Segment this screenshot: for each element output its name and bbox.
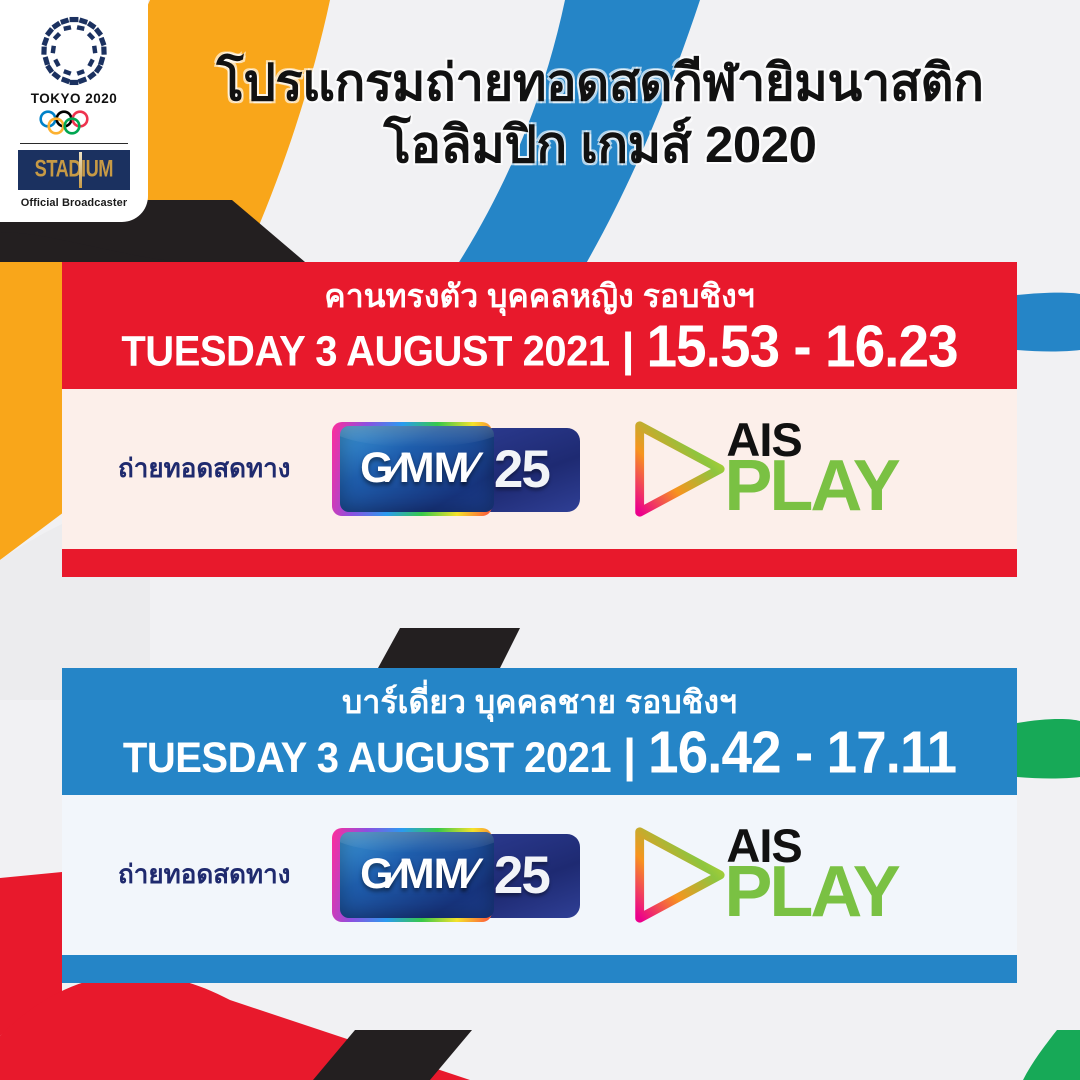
ais-play-wordmark: AIS PLAY (724, 826, 897, 924)
black-band-middle-shape (378, 628, 520, 668)
card-1-watch-label: ถ่ายทอดสดทาง (118, 448, 290, 489)
card-2-footer (62, 955, 1017, 983)
gmm-wordmark: G⁄MM⁄ (360, 850, 474, 899)
gmm-25-logo[interactable]: 25 G⁄MM⁄ (330, 420, 580, 518)
ais-play-triangle-icon (622, 823, 730, 927)
tokyo-2020-text: TOKYO 2020 (31, 91, 118, 106)
card-1-datetime: TUESDAY 3 AUGUST 2021 | 15.53 - 16.23 (80, 319, 999, 375)
ais-product-text: PLAY (724, 862, 897, 924)
broadcaster-badge: TOKYO 2020 STADIUM Official Broadcaster (0, 0, 148, 222)
gmm-tile: G⁄MM⁄ (340, 832, 494, 918)
card-2-event-title: บาร์เดี่ยว บุคคลชาย รอบชิงฯ (80, 684, 999, 721)
page-title-line-2: โอลิมปิก เกมส์ 2020 (150, 114, 1050, 176)
gmm-25-number: 25 (494, 439, 549, 500)
gmm-wordmark: G⁄MM⁄ (360, 444, 474, 493)
stadium-logo-text: STADIUM (35, 156, 113, 184)
card-2-separator: | (623, 732, 636, 778)
schedule-card-2[interactable]: บาร์เดี่ยว บุคคลชาย รอบชิงฯ TUESDAY 3 AU… (62, 668, 1017, 983)
card-1-date: TUESDAY 3 AUGUST 2021 (121, 328, 609, 376)
ais-play-logo[interactable]: AIS PLAY (622, 823, 897, 927)
card-2-header: บาร์เดี่ยว บุคคลชาย รอบชิงฯ TUESDAY 3 AU… (62, 668, 1017, 795)
card-1-time: 15.53 - 16.23 (646, 317, 957, 376)
official-broadcaster-caption: Official Broadcaster (21, 197, 128, 209)
card-1-footer (62, 549, 1017, 577)
card-1-header: คานทรงตัว บุคคลหญิง รอบชิงฯ TUESDAY 3 AU… (62, 262, 1017, 389)
gmm-25-logo[interactable]: 25 G⁄MM⁄ (330, 826, 580, 924)
card-2-date: TUESDAY 3 AUGUST 2021 (123, 734, 611, 782)
stadium-logo: STADIUM (18, 150, 130, 190)
ais-play-logo[interactable]: AIS PLAY (622, 417, 897, 521)
ais-product-text: PLAY (724, 456, 897, 518)
card-2-datetime: TUESDAY 3 AUGUST 2021 | 16.42 - 17.11 (80, 725, 999, 781)
schedule-card-1[interactable]: คานทรงตัว บุคคลหญิง รอบชิงฯ TUESDAY 3 AU… (62, 262, 1017, 577)
card-2-body: ถ่ายทอดสดทาง 25 G⁄MM⁄ AIS PLAY (62, 795, 1017, 955)
page-title-line-1: โปรแกรมถ่ายทอดสดกีฬายิมนาสติก (150, 52, 1050, 114)
gmm-tile: G⁄MM⁄ (340, 426, 494, 512)
card-1-separator: | (622, 326, 635, 372)
ais-play-wordmark: AIS PLAY (724, 420, 897, 518)
ais-play-triangle-icon (622, 417, 730, 521)
gmm-25-number: 25 (494, 845, 549, 906)
card-1-body: ถ่ายทอดสดทาง 25 G⁄MM⁄ (62, 389, 1017, 549)
card-2-watch-label: ถ่ายทอดสดทาง (118, 854, 290, 895)
stadium-torch-icon (79, 152, 82, 188)
blue-tab-right-shape (1017, 293, 1080, 352)
page-title: โปรแกรมถ่ายทอดสดกีฬายิมนาสติก โอลิมปิก เ… (150, 52, 1050, 176)
olympic-rings-icon (37, 110, 111, 136)
card-1-event-title: คานทรงตัว บุคคลหญิง รอบชิงฯ (80, 278, 999, 315)
green-tab-right-shape (1017, 719, 1080, 779)
poster-canvas: TOKYO 2020 STADIUM Official Broadcaster … (0, 0, 1080, 1080)
card-2-time: 16.42 - 17.11 (648, 723, 956, 782)
badge-divider (20, 143, 128, 144)
tokyo-2020-emblem-icon (37, 14, 111, 88)
